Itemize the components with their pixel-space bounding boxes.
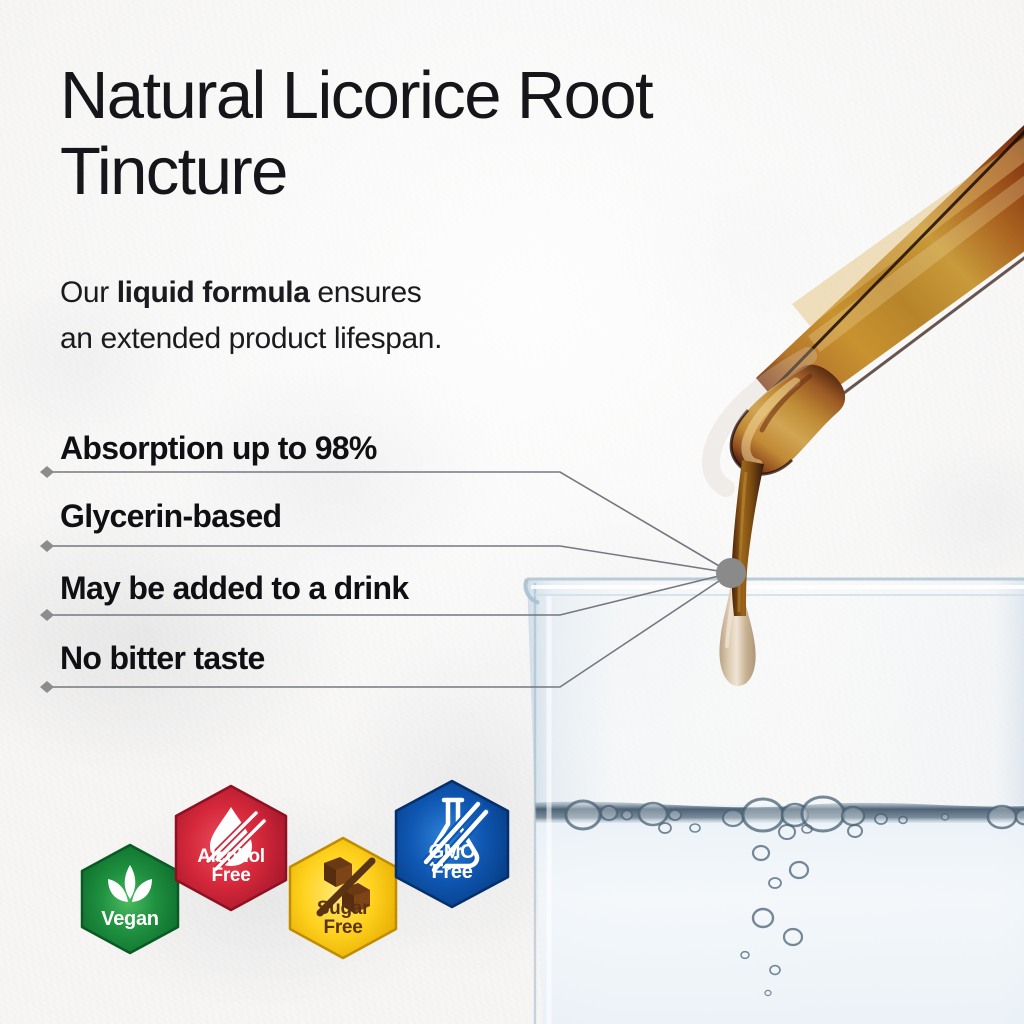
feature-label-2: Glycerin-based	[60, 498, 281, 535]
dropper-neck	[731, 365, 845, 475]
feature-label-3: May be added to a drink	[60, 570, 408, 607]
page-title: Natural Licorice Root Tincture	[60, 58, 860, 210]
page-title-line1: Natural Licorice Root	[60, 58, 652, 133]
page-subtitle: Our liquid formula ensures an extended p…	[60, 270, 600, 362]
subtitle-pre: Our	[60, 276, 117, 309]
dropper-stream	[732, 460, 764, 616]
badge-gmo-free: GMO Free	[386, 778, 518, 910]
page-title-line2: Tincture	[60, 134, 287, 209]
badge-alcohol-free: Alcohol Free	[166, 783, 296, 913]
subtitle-post: ensures	[309, 276, 421, 309]
feature-label-4: No bitter taste	[60, 640, 265, 677]
feature-label-1: Absorption up to 98%	[60, 430, 377, 467]
subtitle-emphasis: liquid formula	[117, 276, 310, 309]
subtitle-line2: an extended product lifespan.	[60, 322, 442, 355]
certification-badges: Vegan	[66, 775, 536, 975]
product-infographic: Natural Licorice Root Tincture Our liqui…	[0, 0, 1024, 1024]
